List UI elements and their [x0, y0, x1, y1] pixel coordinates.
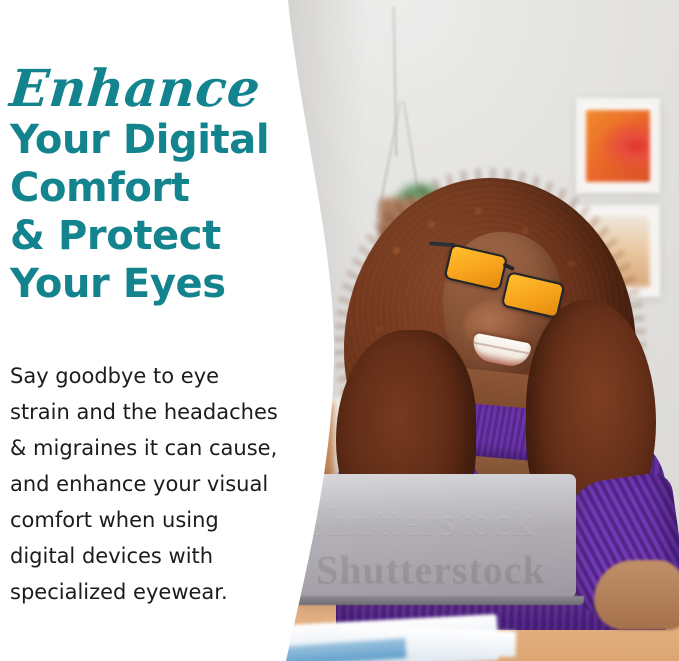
framed-artwork-upper — [576, 98, 660, 193]
body-line: specialized eyewear. — [10, 574, 298, 610]
laptop — [290, 474, 576, 600]
body-line: Say goodbye to eye — [10, 358, 298, 394]
body-copy: Say goodbye to eye strain and the headac… — [10, 358, 298, 610]
headline-line-3: & Protect — [10, 212, 302, 260]
body-line: digital devices with — [10, 538, 298, 574]
hero-photo: Shutterstock Shutterstock — [276, 0, 679, 661]
banner-canvas: Shutterstock Shutterstock Enhance Your D… — [0, 0, 679, 661]
headline-line-4: Your Eyes — [10, 260, 302, 308]
teeth-line — [473, 342, 530, 355]
body-line: comfort when using — [10, 502, 298, 538]
body-line: strain and the headaches — [10, 394, 298, 430]
headline-line-1: Your Digital — [10, 116, 302, 164]
headline: Enhance Your Digital Comfort & Protect Y… — [10, 62, 302, 308]
body-line: & migraines it can cause, — [10, 430, 298, 466]
headline-script-word: Enhance — [8, 62, 305, 116]
laptop-base — [284, 596, 584, 605]
body-line: and enhance your visual — [10, 466, 298, 502]
abstract-orange-art — [586, 110, 650, 182]
laptop-sheen — [290, 474, 576, 529]
headline-line-2: Comfort — [10, 164, 302, 212]
right-hand — [594, 560, 679, 630]
text-panel: Enhance Your Digital Comfort & Protect Y… — [0, 0, 300, 661]
